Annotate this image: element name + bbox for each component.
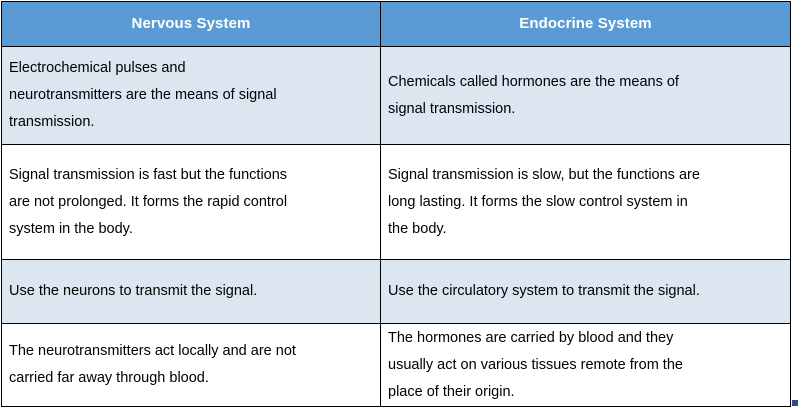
table-row: The neurotransmitters act locally and ar…: [2, 324, 791, 407]
cell-nervous-action-range: The neurotransmitters act locally and ar…: [2, 324, 381, 407]
cell-nervous-transmission-medium: Use the neurons to transmit the signal.: [2, 260, 381, 324]
cell-text: Signal transmission is slow, but the fun…: [381, 162, 790, 243]
cell-text: The neurotransmitters act locally and ar…: [2, 338, 380, 392]
header-cell-nervous-system: Nervous System: [2, 2, 381, 47]
resize-handle[interactable]: [792, 400, 798, 406]
cell-nervous-signal-transmission-means: Electrochemical pulses and neurotransmit…: [2, 47, 381, 145]
cell-text: The hormones are carried by blood and th…: [381, 325, 790, 406]
comparison-table-grid: Nervous System Endocrine System Electroc…: [1, 1, 791, 407]
cell-nervous-transmission-speed: Signal transmission is fast but the func…: [2, 145, 381, 260]
table-header: Nervous System Endocrine System: [2, 2, 791, 47]
cell-endocrine-action-range: The hormones are carried by blood and th…: [381, 324, 791, 407]
cell-text: Chemicals called hormones are the means …: [381, 69, 790, 123]
cell-endocrine-signal-transmission-means: Chemicals called hormones are the means …: [381, 47, 791, 145]
table-body: Electrochemical pulses and neurotransmit…: [2, 47, 791, 407]
cell-text: Use the circulatory system to transmit t…: [381, 278, 790, 305]
cell-endocrine-transmission-medium: Use the circulatory system to transmit t…: [381, 260, 791, 324]
cell-text: Electrochemical pulses and neurotransmit…: [2, 55, 380, 136]
cell-endocrine-transmission-speed: Signal transmission is slow, but the fun…: [381, 145, 791, 260]
table-row: Electrochemical pulses and neurotransmit…: [2, 47, 791, 145]
cell-text: Use the neurons to transmit the signal.: [2, 278, 380, 305]
table-row: Signal transmission is fast but the func…: [2, 145, 791, 260]
header-cell-endocrine-system: Endocrine System: [381, 2, 791, 47]
table-row: Use the neurons to transmit the signal. …: [2, 260, 791, 324]
header-label-endocrine-system: Endocrine System: [381, 16, 790, 33]
header-row: Nervous System Endocrine System: [2, 2, 791, 47]
cell-text: Signal transmission is fast but the func…: [2, 162, 380, 243]
comparison-table: Nervous System Endocrine System Electroc…: [0, 0, 802, 408]
header-label-nervous-system: Nervous System: [2, 16, 380, 33]
